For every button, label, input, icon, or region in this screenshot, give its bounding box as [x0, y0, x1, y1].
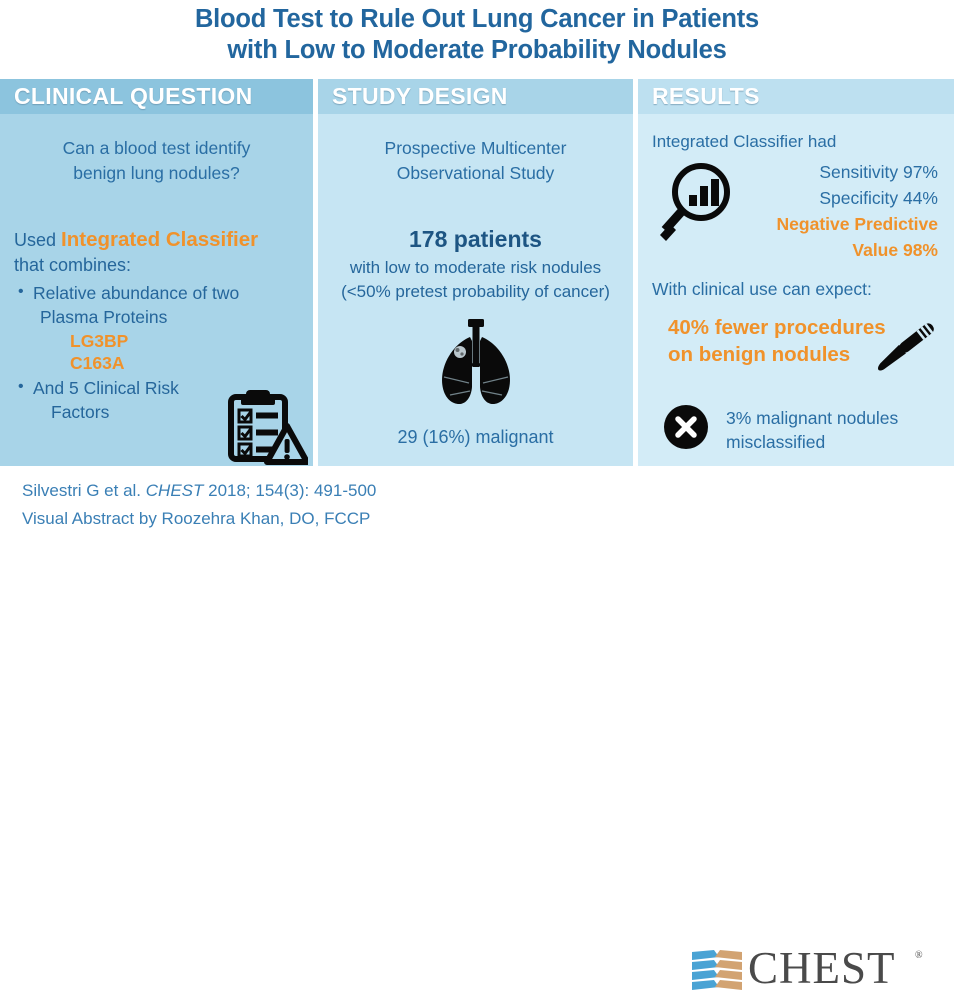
results-statistics: Sensitivity 97% Specificity 44% Negative… — [676, 159, 938, 263]
chest-logo: CHEST ® — [692, 946, 938, 996]
column-heading-results: RESULTS — [638, 79, 954, 114]
used-prefix: Used — [14, 230, 61, 250]
study-design-text: Prospective Multicenter Observational St… — [318, 136, 633, 186]
misclassified-text: 3% malignant nodules misclassified — [726, 406, 941, 454]
results-lead: Integrated Classifier had — [652, 132, 836, 152]
npv-line-1: Negative Predictive — [676, 211, 938, 237]
design-line-1: Prospective Multicenter — [318, 136, 633, 161]
list-item: Relative abundance of two Plasma Protein… — [14, 281, 314, 329]
column-body-study-design: Prospective Multicenter Observational St… — [318, 114, 633, 466]
patient-count: 178 patients — [318, 226, 633, 253]
specificity-value: Specificity 44% — [676, 185, 938, 211]
footer: Silvestri G et al. CHEST 2018; 154(3): 4… — [0, 466, 954, 543]
used-classifier-block: Used Integrated Classifier that combines… — [14, 227, 314, 278]
criteria-line-2: (<50% pretest probability of cancer) — [318, 280, 633, 304]
registered-trademark-icon: ® — [915, 950, 923, 961]
bullet1-line-1: Relative abundance of two — [33, 283, 239, 303]
scalpel-icon — [866, 308, 946, 386]
column-body-clinical-question: Can a blood test identify benign lung no… — [0, 114, 313, 466]
lungs-icon — [424, 319, 528, 411]
bullet1-line-2: Plasma Proteins — [33, 305, 314, 329]
sensitivity-value: Sensitivity 97% — [676, 159, 938, 185]
malignant-count: 29 (16%) malignant — [318, 427, 633, 448]
column-heading-clinical-question: CLINICAL QUESTION — [0, 79, 313, 114]
column-study-design: STUDY DESIGN Prospective Multicenter Obs… — [318, 79, 633, 466]
column-clinical-question: CLINICAL QUESTION Can a blood test ident… — [0, 79, 313, 466]
clinical-question-text: Can a blood test identify benign lung no… — [0, 136, 313, 186]
column-body-results: Integrated Classifier had Sensitivity 97… — [638, 114, 954, 466]
citation-authors: Silvestri G et al. — [22, 481, 146, 500]
citation-details: 2018; 154(3): 491-500 — [203, 481, 376, 500]
question-line-1: Can a blood test identify — [0, 136, 313, 161]
column-results: RESULTS Integrated Classifier had Se — [638, 79, 954, 466]
citation: Silvestri G et al. CHEST 2018; 154(3): 4… — [22, 477, 376, 505]
chest-logo-wordmark: CHEST — [748, 942, 896, 994]
used-suffix: that combines: — [14, 253, 314, 278]
bullet2-line-1: And 5 Clinical Risk — [33, 378, 179, 398]
protein-1: LG3BP — [70, 330, 314, 352]
visual-abstract-page: Blood Test to Rule Out Lung Cancer in Pa… — [0, 0, 954, 543]
clipboard-warning-icon — [228, 389, 308, 467]
x-circle-icon — [663, 404, 709, 450]
citation-block: Silvestri G et al. CHEST 2018; 154(3): 4… — [22, 477, 376, 533]
protein-2: C163A — [70, 352, 314, 374]
visual-abstract-credit: Visual Abstract by Roozehra Khan, DO, FC… — [22, 505, 376, 533]
page-title: Blood Test to Rule Out Lung Cancer in Pa… — [0, 4, 954, 66]
protein-list: LG3BP C163A — [14, 330, 314, 374]
patient-criteria: with low to moderate risk nodules (<50% … — [318, 256, 633, 304]
title-line-1: Blood Test to Rule Out Lung Cancer in Pa… — [0, 4, 954, 35]
citation-journal: CHEST — [146, 481, 204, 500]
column-heading-study-design: STUDY DESIGN — [318, 79, 633, 114]
design-line-2: Observational Study — [318, 161, 633, 186]
question-line-2: benign lung nodules? — [0, 161, 313, 186]
criteria-line-1: with low to moderate risk nodules — [318, 256, 633, 280]
npv-line-2: Value 98% — [676, 237, 938, 263]
columns-container: CLINICAL QUESTION Can a blood test ident… — [0, 79, 954, 466]
integrated-classifier-label: Integrated Classifier — [61, 228, 258, 251]
misclassified-line-2: misclassified — [726, 430, 941, 454]
misclassified-line-1: 3% malignant nodules — [726, 406, 941, 430]
clinical-use-label: With clinical use can expect: — [652, 279, 872, 300]
title-line-2: with Low to Moderate Probability Nodules — [0, 35, 954, 66]
chest-logo-mark — [692, 949, 742, 993]
